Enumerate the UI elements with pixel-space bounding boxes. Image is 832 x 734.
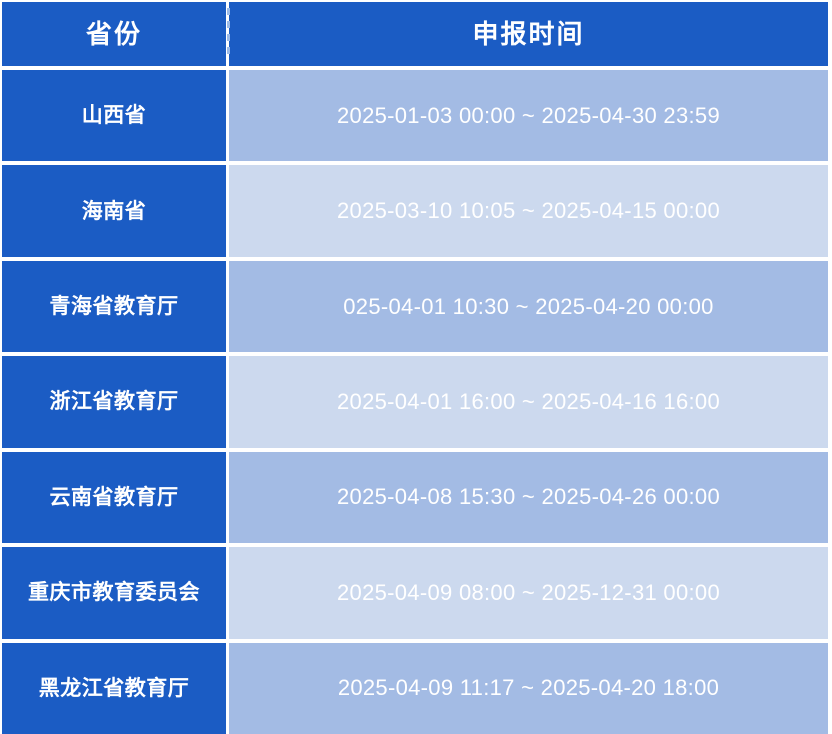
column-header-province: 省份 <box>86 21 142 47</box>
province-label: 黑龙江省教育厅 <box>39 678 190 699</box>
cell-province: 青海省教育厅 <box>2 261 226 352</box>
cell-time: 025-04-01 10:30 ~ 2025-04-20 00:00 <box>229 261 828 352</box>
table-row: 云南省教育厅 2025-04-08 15:30 ~ 2025-04-26 00:… <box>2 452 828 543</box>
cell-time: 2025-04-01 16:00 ~ 2025-04-16 16:00 <box>229 356 828 447</box>
cell-province: 海南省 <box>2 165 226 256</box>
province-label: 重庆市教育委员会 <box>28 582 200 603</box>
time-range-label: 2025-01-03 00:00 ~ 2025-04-30 23:59 <box>337 105 720 127</box>
table-row: 黑龙江省教育厅 2025-04-09 11:17 ~ 2025-04-20 18… <box>2 643 828 734</box>
time-range-label: 2025-04-09 08:00 ~ 2025-12-31 00:00 <box>337 582 720 604</box>
province-label: 山西省 <box>82 105 147 126</box>
cell-time: 2025-04-09 11:17 ~ 2025-04-20 18:00 <box>229 643 828 734</box>
header-cell-province: 省份 <box>2 2 226 66</box>
cell-province: 重庆市教育委员会 <box>2 547 226 638</box>
time-range-label: 025-04-01 10:30 ~ 2025-04-20 00:00 <box>343 296 713 318</box>
column-header-time: 申报时间 <box>472 21 584 47</box>
province-label: 云南省教育厅 <box>50 487 179 508</box>
time-range-label: 2025-03-10 10:05 ~ 2025-04-15 00:00 <box>337 200 720 222</box>
cell-time: 2025-04-09 08:00 ~ 2025-12-31 00:00 <box>229 547 828 638</box>
cell-time: 2025-04-08 15:30 ~ 2025-04-26 00:00 <box>229 452 828 543</box>
province-label: 浙江省教育厅 <box>50 391 179 412</box>
table-row: 山西省 2025-01-03 00:00 ~ 2025-04-30 23:59 <box>2 70 828 161</box>
table-header-row: 省份 申报时间 <box>2 2 828 66</box>
table-row: 重庆市教育委员会 2025-04-09 08:00 ~ 2025-12-31 0… <box>2 547 828 638</box>
declaration-schedule-table: 省份 申报时间 山西省 2025-01-03 00:00 ~ 2025-04-3… <box>0 0 832 734</box>
table-row: 青海省教育厅 025-04-01 10:30 ~ 2025-04-20 00:0… <box>2 261 828 352</box>
province-label: 青海省教育厅 <box>50 296 179 317</box>
table-row: 浙江省教育厅 2025-04-01 16:00 ~ 2025-04-16 16:… <box>2 356 828 447</box>
table: 省份 申报时间 山西省 2025-01-03 00:00 ~ 2025-04-3… <box>2 2 828 734</box>
cell-province: 山西省 <box>2 70 226 161</box>
cell-province: 黑龙江省教育厅 <box>2 643 226 734</box>
cell-province: 浙江省教育厅 <box>2 356 226 447</box>
header-cell-time: 申报时间 <box>229 2 828 66</box>
time-range-label: 2025-04-09 11:17 ~ 2025-04-20 18:00 <box>338 677 719 699</box>
time-range-label: 2025-04-01 16:00 ~ 2025-04-16 16:00 <box>337 391 720 413</box>
cell-time: 2025-01-03 00:00 ~ 2025-04-30 23:59 <box>229 70 828 161</box>
cell-time: 2025-03-10 10:05 ~ 2025-04-15 00:00 <box>229 165 828 256</box>
cell-province: 云南省教育厅 <box>2 452 226 543</box>
province-label: 海南省 <box>82 201 147 222</box>
table-row: 海南省 2025-03-10 10:05 ~ 2025-04-15 00:00 <box>2 165 828 256</box>
time-range-label: 2025-04-08 15:30 ~ 2025-04-26 00:00 <box>337 486 720 508</box>
column-divider-dashed <box>227 8 230 60</box>
